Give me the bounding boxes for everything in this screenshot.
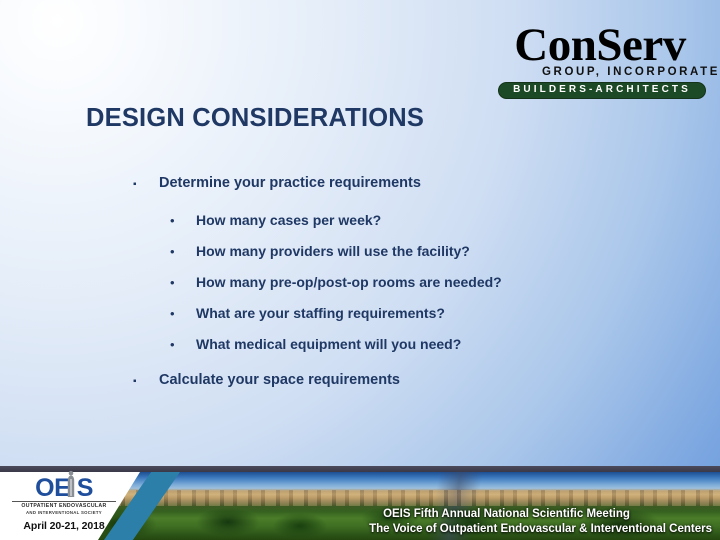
list-item-label: Determine your practice requirements bbox=[159, 176, 421, 192]
list-item: ▪ Determine your practice requirements bbox=[0, 176, 720, 213]
list-item-label: How many providers will use the facility… bbox=[196, 244, 470, 259]
conserv-wordmark: ConServ bbox=[494, 22, 706, 68]
round-bullet-icon: • bbox=[170, 213, 196, 227]
page-title: DESIGN CONSIDERATIONS bbox=[86, 104, 424, 133]
square-bullet-icon: ▪ bbox=[133, 373, 159, 387]
list-item: • How many providers will use the facili… bbox=[0, 244, 720, 275]
oeis-subtitle-line1: OUTPATIENT ENDOVASCULAR bbox=[12, 501, 116, 509]
slide-footer: OE S OUTPATIENT ENDOVASCULAR AND INTERVE… bbox=[0, 466, 720, 540]
list-item-label: What are your staffing requirements? bbox=[196, 306, 445, 321]
conserv-banner: BUILDERS-ARCHITECTS bbox=[498, 82, 706, 99]
list-item-label: What medical equipment will you need? bbox=[196, 337, 461, 352]
round-bullet-icon: • bbox=[170, 244, 196, 258]
round-bullet-icon: • bbox=[170, 306, 196, 320]
bullet-list: ▪ Determine your practice requirements •… bbox=[0, 176, 720, 410]
footer-tagline: OEIS Fifth Annual National Scientific Me… bbox=[369, 507, 712, 536]
square-bullet-icon: ▪ bbox=[133, 176, 159, 190]
round-bullet-icon: • bbox=[170, 275, 196, 289]
oeis-logo: OE S OUTPATIENT ENDOVASCULAR AND INTERVE… bbox=[12, 476, 116, 532]
presentation-slide: ConServ GROUP, INCORPORATED BUILDERS-ARC… bbox=[0, 0, 720, 540]
list-item: • What are your staffing requirements? bbox=[0, 306, 720, 337]
list-item-label: How many cases per week? bbox=[196, 213, 381, 228]
list-item: • How many pre-op/post-op rooms are need… bbox=[0, 275, 720, 306]
list-item-label: Calculate your space requirements bbox=[159, 373, 400, 389]
event-date: April 20-21, 2018 bbox=[12, 520, 116, 532]
list-item: • What medical equipment will you need? bbox=[0, 337, 720, 368]
footer-tagline-line1: OEIS Fifth Annual National Scientific Me… bbox=[369, 507, 712, 521]
conserv-logo: ConServ GROUP, INCORPORATED BUILDERS-ARC… bbox=[494, 22, 706, 99]
footer-tagline-line2: The Voice of Outpatient Endovascular & I… bbox=[369, 522, 712, 536]
oeis-subtitle-line2: AND INTERVENTIONAL SOCIETY bbox=[12, 510, 116, 515]
list-item-label: How many pre-op/post-op rooms are needed… bbox=[196, 275, 502, 290]
caduceus-icon bbox=[66, 470, 76, 500]
list-item: ▪ Calculate your space requirements bbox=[0, 373, 720, 410]
oeis-wordmark: OE S bbox=[12, 476, 116, 501]
round-bullet-icon: • bbox=[170, 337, 196, 351]
oeis-wordmark-text: OE S bbox=[35, 474, 93, 502]
list-item: • How many cases per week? bbox=[0, 213, 720, 244]
